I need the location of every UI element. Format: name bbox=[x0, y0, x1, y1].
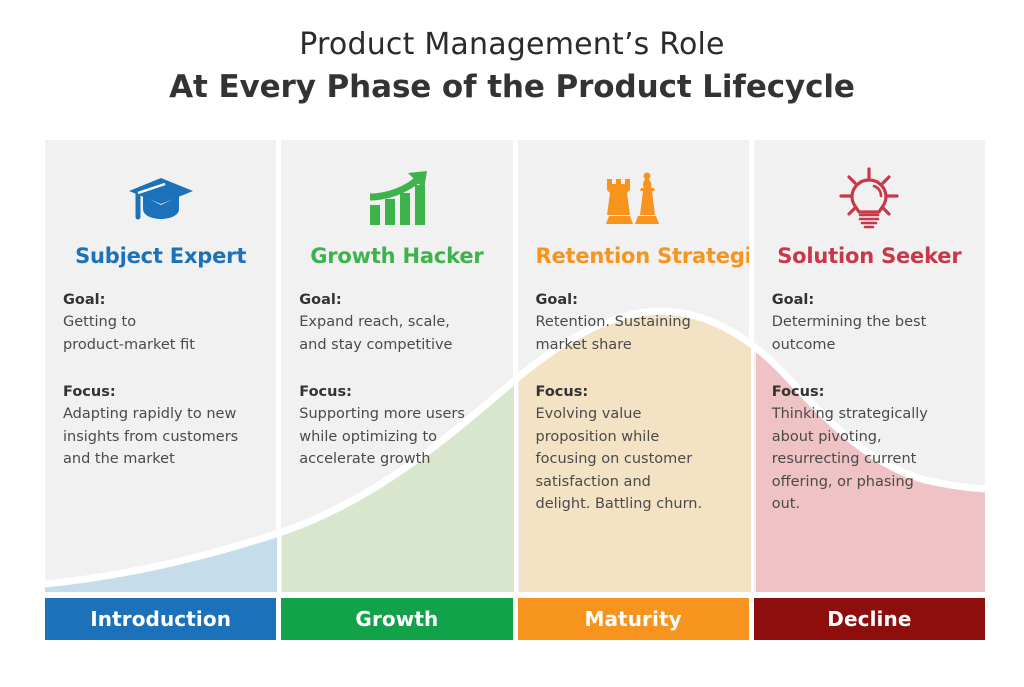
focus-block-maturity: Focus: Evolving value proposition while … bbox=[536, 382, 731, 516]
title-line-1: Product Management’s Role bbox=[0, 26, 1024, 64]
phase-bar-label: Decline bbox=[827, 607, 911, 631]
goal-block-growth: Goal: Expand reach, scale, and stay comp… bbox=[299, 290, 494, 356]
phase-column-introduction[interactable]: Subject Expert Goal: Getting to product-… bbox=[45, 140, 276, 592]
graduation-cap-icon bbox=[63, 162, 258, 234]
goal-block-maturity: Goal: Retention. Sustaining market share bbox=[536, 290, 731, 356]
product-lifecycle-diagram: Subject Expert Goal: Getting to product-… bbox=[45, 140, 985, 640]
goal-label: Goal: bbox=[536, 290, 731, 310]
focus-text: Evolving value proposition while focusin… bbox=[536, 403, 731, 516]
focus-label: Focus: bbox=[299, 382, 494, 402]
phase-column-maturity[interactable]: Retention Strategist Goal: Retention. Su… bbox=[518, 140, 749, 592]
title-line-2: At Every Phase of the Product Lifecycle bbox=[0, 66, 1024, 108]
focus-block-introduction: Focus: Adapting rapidly to new insights … bbox=[63, 382, 258, 471]
phase-role-introduction: Subject Expert bbox=[63, 244, 258, 268]
goal-text: Getting to product-market fit bbox=[63, 311, 258, 356]
phase-role-decline: Solution Seeker bbox=[772, 244, 967, 268]
growth-chart-icon bbox=[299, 162, 494, 234]
phase-column-growth[interactable]: Growth Hacker Goal: Expand reach, scale,… bbox=[281, 140, 512, 592]
goal-block-decline: Goal: Determining the best outcome bbox=[772, 290, 967, 356]
phase-bars: Introduction Growth Maturity Decline bbox=[45, 598, 985, 640]
focus-block-growth: Focus: Supporting more users while optim… bbox=[299, 382, 494, 471]
phase-columns: Subject Expert Goal: Getting to product-… bbox=[45, 140, 985, 592]
phase-bar-decline[interactable]: Decline bbox=[754, 598, 985, 640]
focus-label: Focus: bbox=[772, 382, 967, 402]
focus-label: Focus: bbox=[63, 382, 258, 402]
phase-column-decline[interactable]: Solution Seeker Goal: Determining the be… bbox=[754, 140, 985, 592]
chess-pieces-icon bbox=[536, 162, 731, 234]
page-title: Product Management’s Role At Every Phase… bbox=[0, 26, 1024, 108]
goal-text: Determining the best outcome bbox=[772, 311, 967, 356]
phase-bar-growth[interactable]: Growth bbox=[281, 598, 512, 640]
phase-bar-maturity[interactable]: Maturity bbox=[518, 598, 749, 640]
goal-label: Goal: bbox=[772, 290, 967, 310]
phase-bar-label: Introduction bbox=[90, 607, 231, 631]
goal-text: Expand reach, scale, and stay competitiv… bbox=[299, 311, 494, 356]
goal-block-introduction: Goal: Getting to product-market fit bbox=[63, 290, 258, 356]
phase-role-maturity: Retention Strategist bbox=[536, 244, 731, 268]
phase-bar-introduction[interactable]: Introduction bbox=[45, 598, 276, 640]
focus-text: Supporting more users while optimizing t… bbox=[299, 403, 494, 471]
goal-label: Goal: bbox=[63, 290, 258, 310]
phase-bar-label: Maturity bbox=[584, 607, 681, 631]
lightbulb-icon bbox=[772, 162, 967, 234]
focus-label: Focus: bbox=[536, 382, 731, 402]
focus-text: Thinking strategically about pivoting, r… bbox=[772, 403, 967, 516]
phase-bar-label: Growth bbox=[355, 607, 438, 631]
goal-text: Retention. Sustaining market share bbox=[536, 311, 731, 356]
focus-block-decline: Focus: Thinking strategically about pivo… bbox=[772, 382, 967, 516]
focus-text: Adapting rapidly to new insights from cu… bbox=[63, 403, 258, 471]
phase-role-growth: Growth Hacker bbox=[299, 244, 494, 268]
goal-label: Goal: bbox=[299, 290, 494, 310]
